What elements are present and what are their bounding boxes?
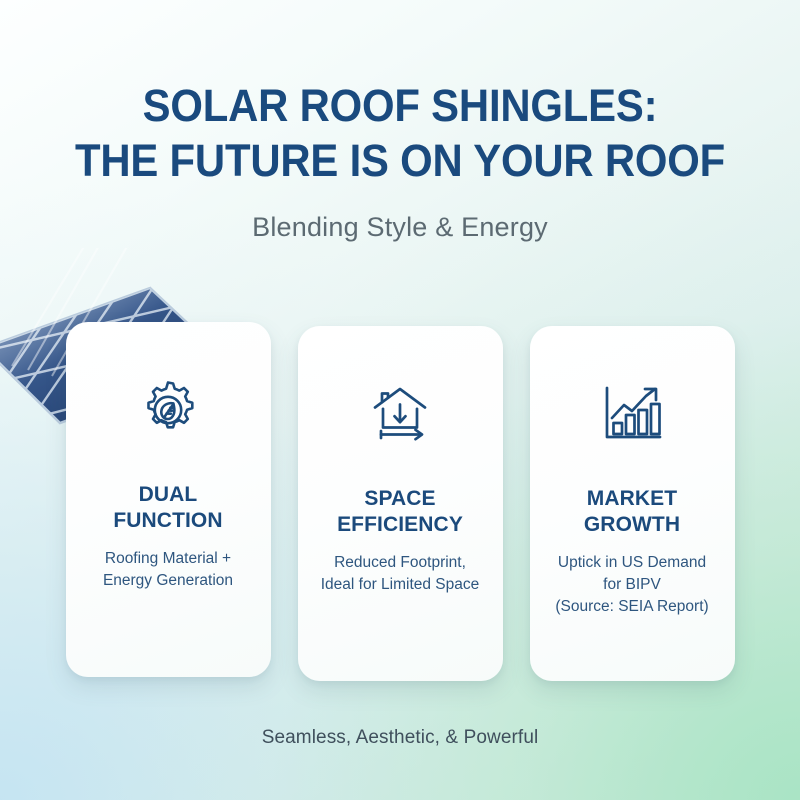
card-title-line-1: SPACE xyxy=(364,487,435,510)
card-title: SPACE EFFICIENCY xyxy=(329,486,471,538)
card-body: Uptick in US Demand for BIPV (Source: SE… xyxy=(545,552,718,618)
card-title-line-2: GROWTH xyxy=(584,513,680,536)
bar-chart-growth-icon xyxy=(600,378,664,450)
card-body: Roofing Material + Energy Generation xyxy=(93,548,243,592)
card-title: DUAL FUNCTION xyxy=(105,482,230,534)
headline-line-2: THE FUTURE IS ON YOUR ROOF xyxy=(28,133,772,188)
footer-tagline: Seamless, Aesthetic, & Powerful xyxy=(0,727,800,749)
card-body-line-2: for BIPV xyxy=(603,576,661,593)
poster-canvas: SOLAR ROOF SHINGLES: THE FUTURE IS ON YO… xyxy=(0,0,800,800)
card-title-line-2: FUNCTION xyxy=(113,509,222,532)
card-body-line-2: Energy Generation xyxy=(103,572,233,589)
card-title-line-1: DUAL xyxy=(139,483,198,506)
feature-card-dual-function[interactable]: DUAL FUNCTION Roofing Material + Energy … xyxy=(66,322,271,677)
feature-card-space-efficiency[interactable]: SPACE EFFICIENCY Reduced Footprint, Idea… xyxy=(298,326,503,681)
feature-card-market-growth[interactable]: MARKET GROWTH Uptick in US Demand for BI… xyxy=(530,326,735,681)
feature-card-row: DUAL FUNCTION Roofing Material + Energy … xyxy=(0,322,800,682)
card-body: Reduced Footprint, Ideal for Limited Spa… xyxy=(311,552,490,596)
card-body-line-1: Reduced Footprint, xyxy=(334,554,466,571)
card-body-line-1: Uptick in US Demand xyxy=(558,554,706,571)
subtitle: Blending Style & Energy xyxy=(0,212,800,243)
headline-line-1: SOLAR ROOF SHINGLES: xyxy=(143,80,658,131)
card-title-line-2: EFFICIENCY xyxy=(337,513,463,536)
card-title: MARKET GROWTH xyxy=(576,486,688,538)
page-title: SOLAR ROOF SHINGLES: THE FUTURE IS ON YO… xyxy=(28,78,772,188)
card-body-line-3: (Source: SEIA Report) xyxy=(555,598,708,615)
house-down-arrow-icon xyxy=(368,378,432,450)
gear-leaf-icon xyxy=(135,374,201,446)
card-body-line-2: Ideal for Limited Space xyxy=(321,576,480,593)
card-title-line-1: MARKET xyxy=(587,487,677,510)
card-body-line-1: Roofing Material + xyxy=(105,550,231,567)
